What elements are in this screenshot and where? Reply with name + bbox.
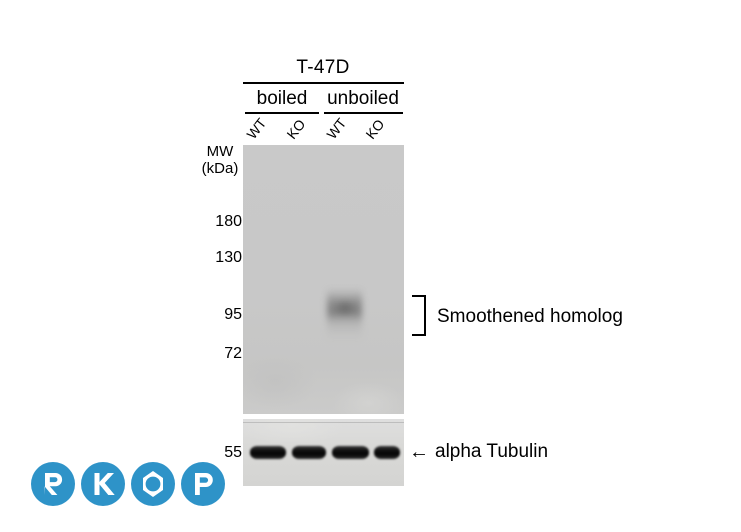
mw-axis-title: MW (kDa) [193,143,247,177]
target-label-alpha-tubulin: alpha Tubulin [435,441,548,463]
mw-marker-55: 55 [186,444,242,462]
band-tubulin-lane1 [250,446,286,459]
lane-label-4: KO [371,116,411,144]
cell-line-underline [243,82,404,84]
treatment-underline-unboiled [324,112,403,114]
blot-panel-alpha-tubulin [243,419,404,486]
band-tubulin-lane4 [374,446,400,459]
treatment-label-boiled: boiled [243,88,321,110]
logo-letter-k-icon [80,461,126,507]
arrow-left-icon: ← [409,441,429,463]
mw-marker-72: 72 [186,345,242,363]
brand-logo [30,461,226,507]
logo-letter-o-icon [130,461,176,507]
bracket-icon [412,295,426,336]
figure-canvas: T-47D boiled unboiled WT KO WT KO MW (kD… [0,0,741,532]
band-tubulin-lane2 [292,446,326,459]
blot-panel-smoothened [243,145,404,414]
mw-marker-180: 180 [186,213,242,231]
lane-label-1-text: WT [243,115,269,142]
mw-axis-title-line2: (kDa) [193,160,247,177]
logo-letter-p-icon [180,461,226,507]
logo-letter-r-icon [30,461,76,507]
mw-axis-title-line1: MW [207,143,234,160]
target-label-smoothened: Smoothened homolog [437,306,623,328]
mw-marker-130: 130 [186,249,242,267]
band-smoothened-lane3-core [331,297,359,319]
mw-marker-95: 95 [186,306,242,324]
treatment-label-unboiled: unboiled [322,88,404,110]
cell-line-label: T-47D [243,57,403,79]
band-tubulin-lane3 [332,446,369,459]
